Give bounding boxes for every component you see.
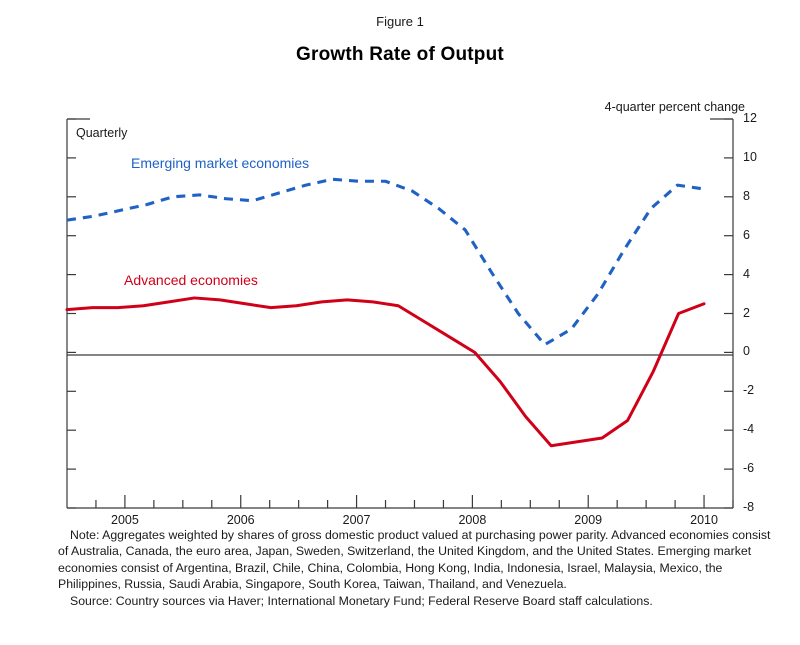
footnotes: Note: Aggregates weighted by shares of g… — [58, 527, 776, 609]
footnote-note: Note: Aggregates weighted by shares of g… — [58, 527, 776, 593]
y-axis-tick-label: 2 — [743, 306, 773, 320]
y-axis-ticks — [67, 119, 733, 508]
y-axis-tick-label: -2 — [743, 383, 773, 397]
plot-frame — [67, 119, 733, 508]
x-axis-tick-label: 2006 — [211, 513, 271, 527]
y-axis-tick-label: -4 — [743, 422, 773, 436]
x-axis-tick-label: 2008 — [442, 513, 502, 527]
y-axis-tick-label: 6 — [743, 228, 773, 242]
y-axis-tick-label: -8 — [743, 500, 773, 514]
chart-plot-area — [0, 0, 800, 520]
footnote-source: Source: Country sources via Haver; Inter… — [58, 593, 776, 609]
series-line-emerging — [67, 179, 704, 344]
y-axis-tick-label: 10 — [743, 150, 773, 164]
x-axis-tick-label: 2005 — [95, 513, 155, 527]
y-axis-tick-label: 4 — [743, 267, 773, 281]
x-axis-ticks — [96, 495, 733, 508]
x-axis-tick-label: 2009 — [558, 513, 618, 527]
y-axis-tick-label: 12 — [743, 111, 773, 125]
y-axis-tick-label: 8 — [743, 189, 773, 203]
y-axis-tick-label: 0 — [743, 344, 773, 358]
series-line-advanced — [67, 298, 704, 446]
x-axis-tick-label: 2010 — [674, 513, 734, 527]
y-axis-tick-label: -6 — [743, 461, 773, 475]
x-axis-tick-label: 2007 — [327, 513, 387, 527]
